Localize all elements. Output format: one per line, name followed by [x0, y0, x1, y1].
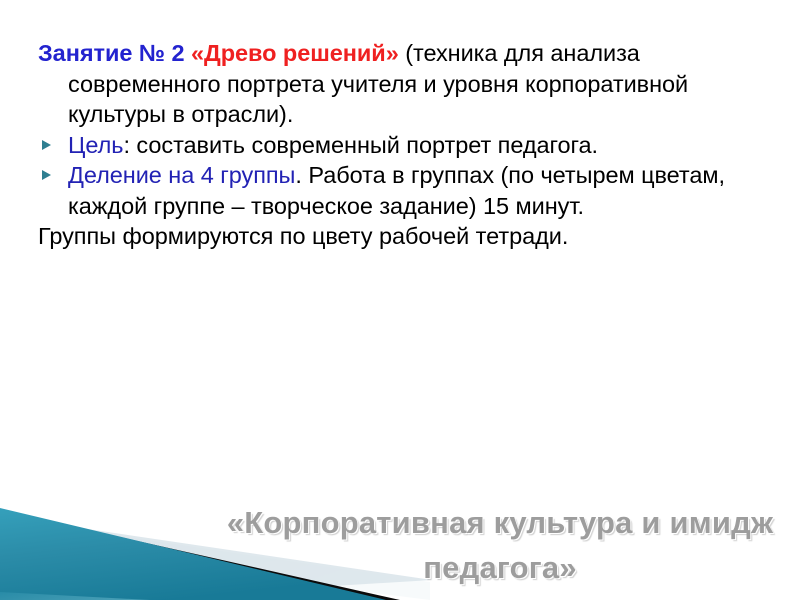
paragraph-4-run: Группы формируются по цвету рабочей тетр…: [38, 223, 568, 249]
triangle-bullet-icon: [42, 140, 51, 150]
paragraph-1-run-technique-name: «Древо решений»: [191, 40, 399, 66]
triangle-bullet-icon: [42, 170, 51, 180]
slide-title: «Корпоративная культура и имидж педагога…: [210, 500, 790, 590]
paragraph-2-run-goal-label: Цель: [68, 132, 123, 158]
paragraph-2-run-goal-text: : составить современный портрет педагога…: [123, 132, 598, 158]
paragraph-3: Деление на 4 группы. Работа в группах (п…: [38, 160, 758, 221]
paragraph-4: Группы формируются по цвету рабочей тетр…: [38, 221, 758, 252]
paragraph-1: Занятие № 2 «Древо решений» (техника для…: [38, 38, 758, 130]
paragraph-2: Цель: составить современный портрет педа…: [38, 130, 758, 161]
paragraph-1-run-title: Занятие № 2: [38, 40, 191, 66]
slide-canvas: Занятие № 2 «Древо решений» (техника для…: [0, 0, 800, 600]
paragraph-3-run-grouping-label: Деление на 4 группы: [68, 162, 295, 188]
slide-body-text: Занятие № 2 «Древо решений» (техника для…: [38, 38, 758, 252]
